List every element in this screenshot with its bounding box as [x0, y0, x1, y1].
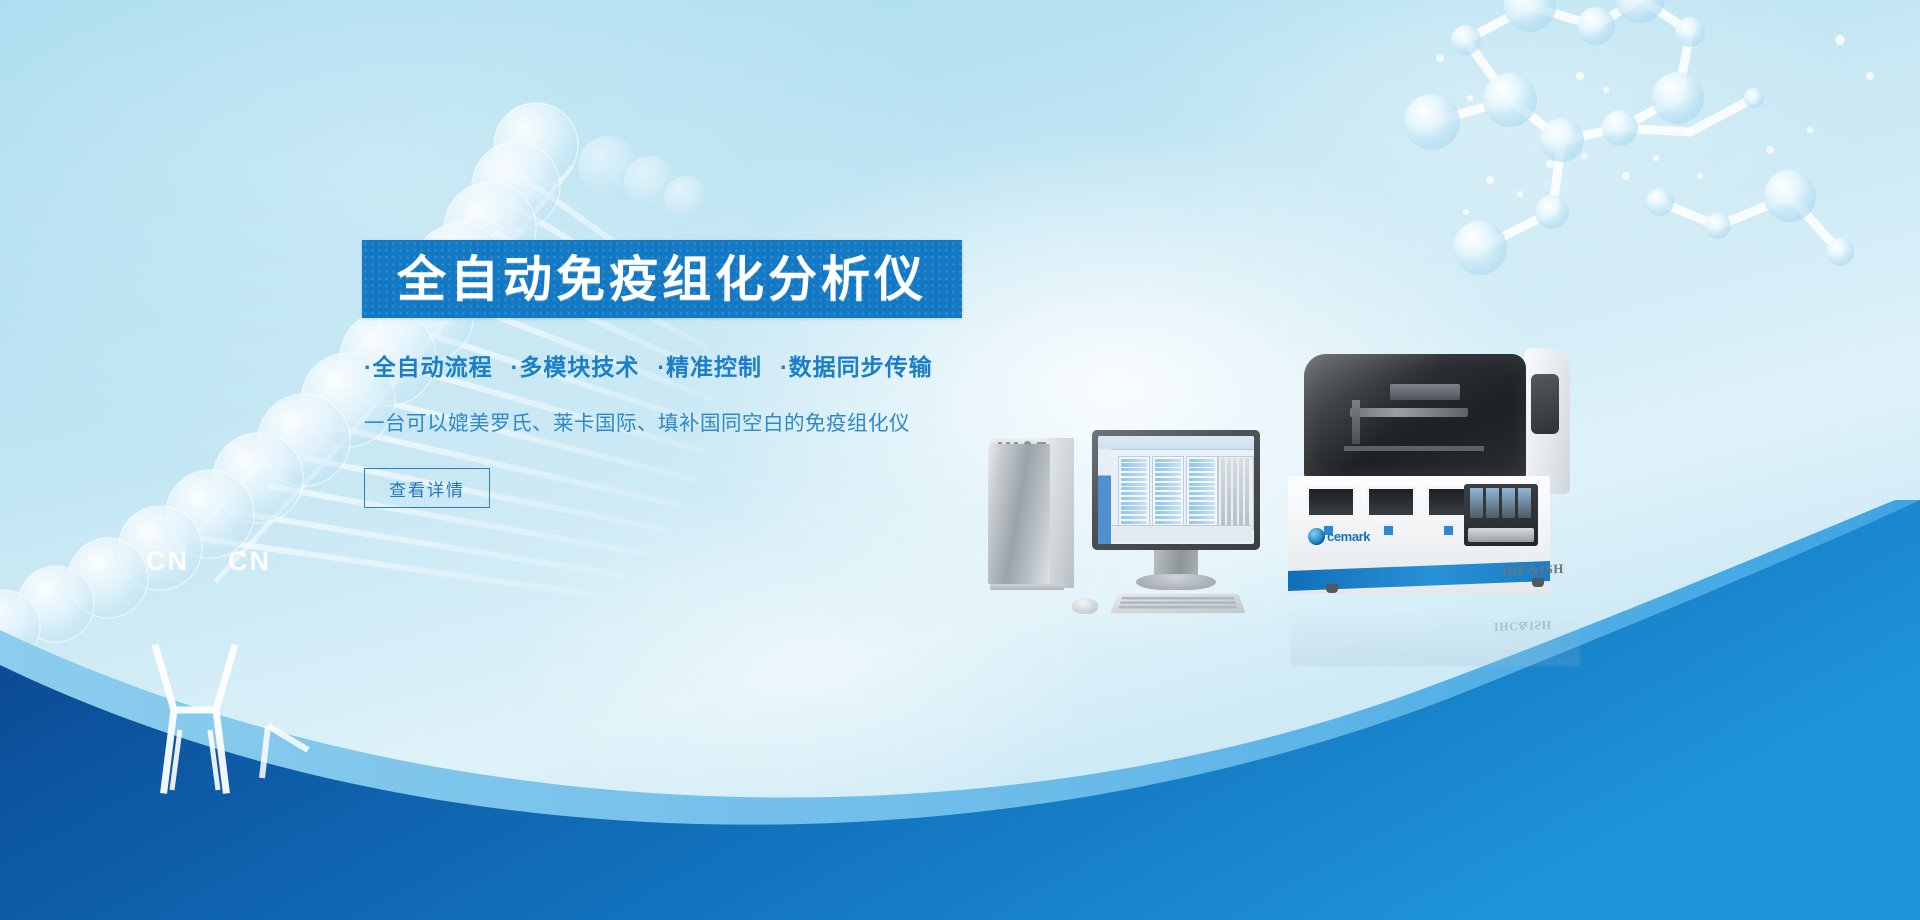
ihc-analyzer: cemark IHC&ISH [1280, 330, 1580, 620]
tower-base [990, 584, 1064, 590]
robot-arm [1350, 408, 1468, 417]
analyzer-reflection-text: IHC&ISH [1494, 617, 1552, 634]
feature-item-1: ·全自动流程 [364, 354, 493, 380]
page-title: 全自动免疫组化分析仪 [397, 255, 927, 304]
analyzer-glass-hood [1304, 354, 1526, 478]
monitor-stand [1136, 574, 1216, 590]
feature-item-4: ·数据同步传输 [780, 354, 933, 380]
product-model-text: IHC&ISH [1502, 561, 1564, 579]
chemical-structure-icon [130, 640, 380, 840]
sample-bay-2 [1366, 486, 1416, 518]
analyzer-hood-shell [1288, 338, 1550, 480]
feature-item-3: ·精准控制 [657, 354, 762, 380]
view-details-button[interactable]: 查看详情 [364, 468, 490, 508]
hero-banner: CN CN [0, 0, 1920, 920]
analyzer-foot-left [1326, 584, 1338, 593]
keyboard [1110, 594, 1246, 613]
analyzer-reflection [1290, 602, 1580, 666]
slide-rack-1 [1118, 456, 1150, 530]
status-led-2 [1382, 524, 1395, 537]
sample-bay-1 [1306, 486, 1356, 518]
software-statusbar [1112, 525, 1252, 542]
status-led-3 [1442, 524, 1455, 537]
robot-arm-vertical [1352, 400, 1360, 444]
robot-rail [1344, 446, 1484, 451]
banner-copy: 全自动免疫组化分析仪 ·全自动流程·多模块技术·精准控制·数据同步传输 一台可以… [362, 240, 1082, 508]
analyzer-foot-right [1532, 578, 1544, 587]
feature-item-2: ·多模块技术 [511, 354, 640, 380]
monitor-screen [1098, 436, 1254, 544]
monitor-neck [1154, 550, 1198, 576]
monitor [1092, 430, 1262, 600]
brand-logo: cemark [1308, 528, 1370, 545]
page-title-bar: 全自动免疫组化分析仪 [362, 240, 962, 318]
slide-rack-2 [1152, 456, 1184, 530]
brand-logo-mark-icon [1308, 528, 1325, 545]
mouse [1072, 598, 1098, 614]
slide-rack-3 [1186, 456, 1218, 530]
feature-list: ·全自动流程·多模块技术·精准控制·数据同步传输 [364, 348, 1082, 382]
brand-logo-text: cemark [1327, 529, 1370, 544]
reagent-columns [1218, 456, 1254, 530]
robot-gantry [1390, 384, 1460, 400]
monitor-bezel [1092, 430, 1260, 550]
reagent-carousel [1464, 484, 1538, 546]
molecule-cluster-icon [1370, 0, 1920, 380]
software-toolbar [1098, 436, 1254, 450]
chem-label-cn-right: CN [228, 546, 271, 577]
software-sidebar [1098, 449, 1111, 544]
chem-label-cn-left: CN [146, 546, 189, 577]
banner-subtitle: 一台可以媲美罗氏、莱卡国际、填补国同空白的免疫组化仪 [364, 406, 1082, 436]
